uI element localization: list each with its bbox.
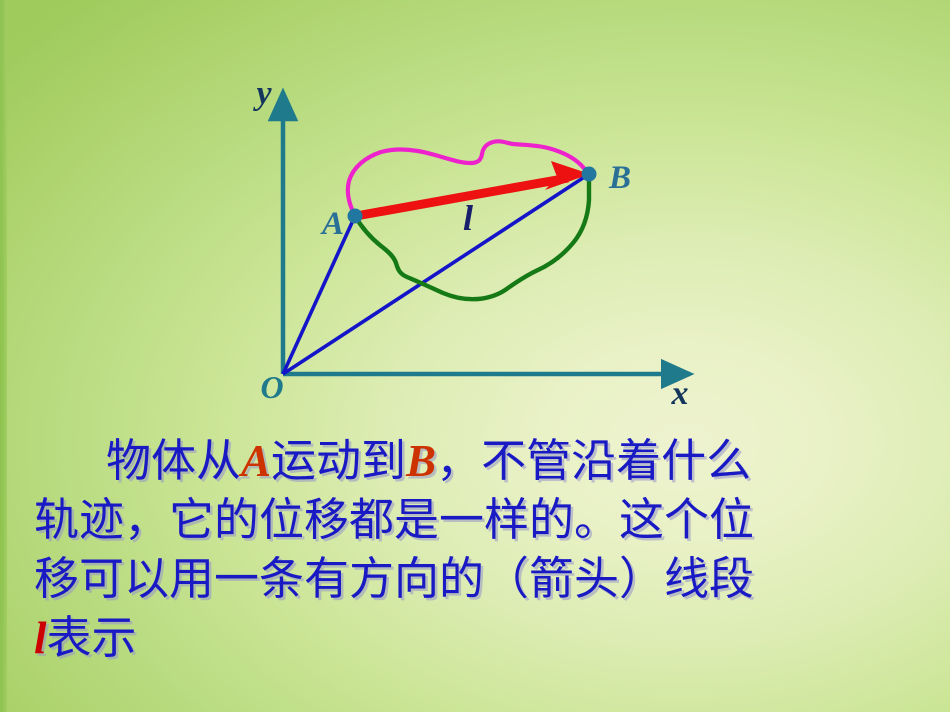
- vector-label-l: l: [463, 198, 473, 238]
- axes-group: [283, 92, 690, 374]
- caption-line-4: l表示: [34, 609, 924, 668]
- caption-line4-rest: 表示: [47, 613, 137, 663]
- origin-label: O: [260, 369, 283, 405]
- slide-canvas: y x O A B l 物体从A运动到B，不管沿着什么 轨迹，它的位移都是一样的…: [0, 0, 950, 712]
- caption-line-3: 移可以用一条有方向的（箭头）线段: [34, 550, 924, 609]
- caption-line1-part-a: 物体从: [106, 436, 241, 486]
- point-b-label: B: [608, 160, 631, 196]
- caption-highlight-b: B: [406, 436, 436, 486]
- point-b-dot: [582, 167, 597, 182]
- caption-line1-part-c: ，不管沿着什么: [436, 436, 751, 486]
- y-axis-label: y: [252, 75, 272, 112]
- point-a-label: A: [320, 206, 344, 242]
- caption-text-block: 物体从A运动到B，不管沿着什么 轨迹，它的位移都是一样的。这个位 移可以用一条有…: [0, 432, 950, 712]
- point-a-dot: [348, 209, 363, 224]
- displacement-diagram: y x O A B l: [0, 0, 950, 430]
- x-axis-label: x: [671, 375, 689, 412]
- caption-highlight-l: l: [34, 613, 47, 663]
- caption-line-1: 物体从A运动到B，不管沿着什么: [34, 432, 924, 491]
- caption-line-2: 轨迹，它的位移都是一样的。这个位: [34, 491, 924, 550]
- caption-line1-part-b: 运动到: [271, 436, 406, 486]
- caption-highlight-a: A: [241, 436, 271, 486]
